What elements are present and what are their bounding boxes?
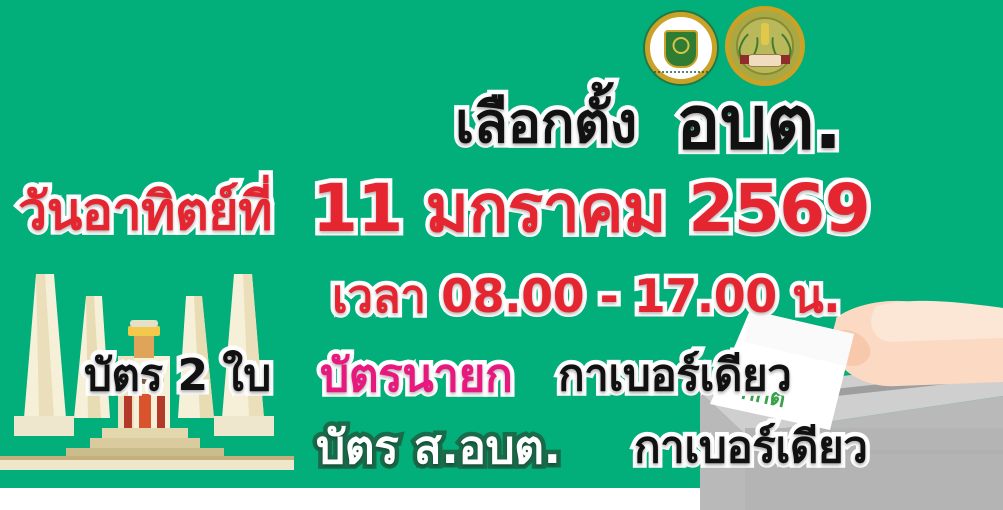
ballot-row1-instruction: กาเบอร์เดียว: [558, 354, 791, 398]
headline-election-word: เลือกตั้ง: [455, 96, 637, 152]
official-green-gold-seal-icon: [645, 12, 717, 84]
date-main: 11 มกราคม 2569: [312, 176, 870, 242]
headline-abt-word: อบต.: [676, 86, 842, 160]
ballot-row1-type: บัตรนายก: [320, 352, 512, 398]
hand-illustration: [830, 301, 1003, 386]
emblem-group: [645, 4, 810, 88]
ballot-count-label: บัตร 2 ใบ: [84, 354, 271, 398]
olive-gold-handshake-seal-icon: [725, 6, 805, 86]
ballot-row2-type: บัตร ส.อบต.: [316, 424, 561, 470]
date-prefix: วันอาทิตย์ที่: [18, 186, 272, 238]
ballot-row2-instruction: กาเบอร์เดียว: [634, 426, 867, 470]
voting-time: เวลา 08.00 - 17.00 น.: [332, 273, 840, 319]
election-poster: กกต เลือกตั้ง อบต. วันอาทิตย์ที่ 11 มกรา…: [0, 0, 1003, 510]
ballot-box-scene: กกต: [640, 300, 1003, 510]
